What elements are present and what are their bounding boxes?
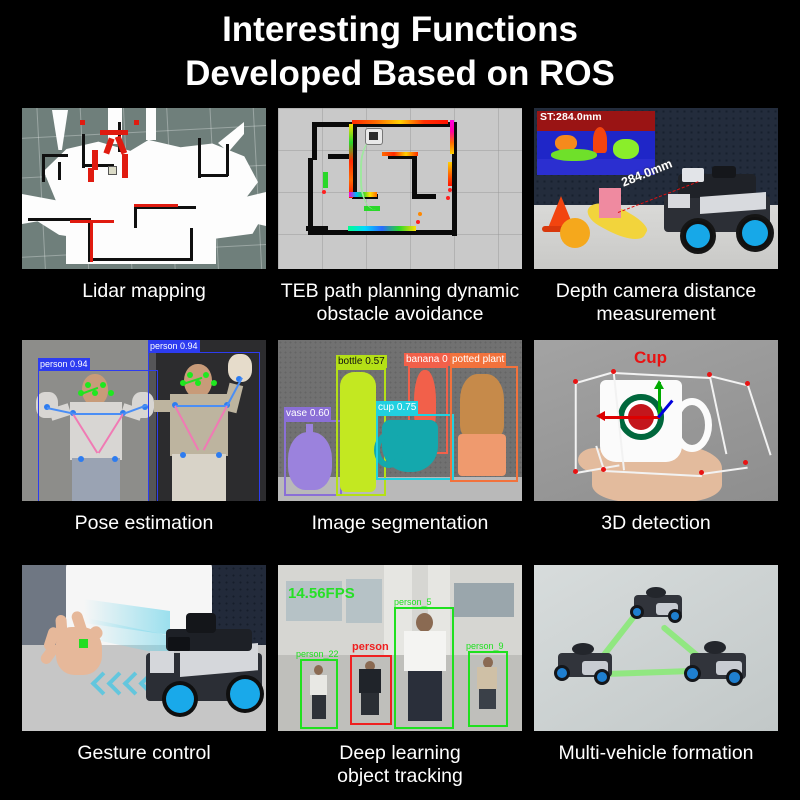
- building-window: [454, 583, 514, 617]
- car-front-panel: [668, 194, 690, 208]
- lidar-obstacle-marker: [100, 130, 128, 135]
- pose-keypoint: [100, 382, 106, 388]
- lidar-obstacle-marker: [134, 120, 139, 125]
- depth-blob-cone: [593, 127, 607, 153]
- object-tracking-image: 14.56FPS person_22: [278, 565, 522, 731]
- axis-x: [604, 416, 660, 419]
- camera-module: [168, 637, 190, 651]
- pose-estimation-thumbnail[interactable]: person 0.94: [22, 340, 266, 501]
- teb-costmap-band: [450, 120, 454, 154]
- lidar-map-image: [22, 108, 266, 269]
- feature-caption-pose-estimation: Pose estimation: [22, 501, 266, 537]
- teb-obstacle-dot: [418, 212, 422, 216]
- teb-robot-icon: [365, 128, 383, 145]
- lidar-obstacle-marker: [134, 204, 178, 207]
- potted-plant-bounding-box: [450, 366, 518, 482]
- depth-status-text: ST:284.0mm: [540, 111, 602, 123]
- lidar-obstacle-marker: [92, 150, 98, 170]
- lidar-wall: [58, 162, 61, 180]
- poster-root: Interesting Functions Developed Based on…: [0, 0, 800, 800]
- lidar-wall: [190, 228, 193, 261]
- depth-camera-thumbnail[interactable]: ST:284.0mm 284.0mm: [534, 108, 778, 269]
- teb-wall: [306, 226, 328, 231]
- feature-caption-teb-path-planning: TEB path planning dynamic obstacle avoid…: [278, 269, 522, 328]
- depth-blob-banana: [551, 149, 597, 161]
- teb-obstacle-dot: [416, 220, 420, 224]
- feature-caption-depth-camera: Depth camera distance measurement: [534, 269, 778, 328]
- bbox-corner: [601, 467, 606, 472]
- pose-label-right: person 0.94: [148, 340, 200, 352]
- 3d-object-label: Cup: [634, 348, 667, 368]
- lidar-wall: [88, 258, 192, 261]
- vehicle-wheel: [630, 605, 644, 619]
- fps-counter: 14.56FPS: [288, 585, 355, 602]
- feature-card-image-segmentation[interactable]: vase 0.60 bottle 0.57 banana 0 cup 0.75: [278, 340, 522, 565]
- lidar-wall: [226, 144, 229, 176]
- lidar-module: [186, 613, 216, 633]
- pose-bone: [175, 405, 227, 407]
- lidar-obstacle-marker: [122, 154, 128, 178]
- teb-wall: [412, 154, 417, 198]
- tracking-box: [350, 655, 392, 725]
- teb-costmap-band: [448, 162, 452, 186]
- feature-caption-multi-vehicle-formation: Multi-vehicle formation: [534, 731, 778, 767]
- page-title-line-1: Interesting Functions: [0, 8, 800, 52]
- feature-card-teb-path-planning[interactable]: TEB path planning dynamic obstacle avoid…: [278, 108, 522, 340]
- depth-caption-line-1: Depth camera distance: [556, 280, 757, 302]
- vehicle-wheel: [668, 609, 682, 623]
- tracking-box: [394, 607, 454, 729]
- lidar-obstacle-marker: [88, 168, 94, 182]
- pose-keypoint-hip: [216, 452, 222, 458]
- teb-wall: [312, 122, 317, 160]
- vehicle-wheel: [726, 669, 743, 686]
- tracking-box: [300, 659, 338, 729]
- cup-bounding-box: [376, 414, 454, 480]
- page-title: Interesting Functions Developed Based on…: [0, 8, 800, 96]
- feature-card-depth-camera[interactable]: ST:284.0mm 284.0mm: [534, 108, 778, 340]
- feature-caption-image-segmentation: Image segmentation: [278, 501, 522, 537]
- 3d-detection-thumbnail[interactable]: Cup: [534, 340, 778, 501]
- pose-keypoint: [195, 380, 201, 386]
- car-wheel: [226, 675, 264, 713]
- vehicle-lidar: [646, 587, 666, 598]
- feature-card-object-tracking[interactable]: 14.56FPS person_22: [278, 565, 522, 790]
- bbox-corner: [573, 469, 578, 474]
- camera-module: [682, 168, 704, 182]
- orange-fruit-object: [560, 218, 590, 248]
- vehicle-lidar: [704, 641, 726, 654]
- bbox-corner: [743, 460, 748, 465]
- lidar-obstacle-marker: [80, 120, 85, 125]
- teb-map-image: [278, 108, 522, 269]
- tracking-caption-line-1: Deep learning: [339, 742, 460, 764]
- vase-bounding-box: [284, 420, 342, 496]
- lidar-wall: [42, 154, 68, 157]
- pose-keypoint-hip: [78, 456, 84, 462]
- tracking-box: [468, 651, 508, 727]
- feature-grid: Lidar mapping: [22, 108, 778, 790]
- gesture-marker: [79, 639, 88, 648]
- bbox-corner: [611, 369, 616, 374]
- robot-vehicle: [554, 639, 616, 691]
- robot-car: [140, 607, 266, 717]
- feature-caption-3d-detection: 3D detection: [534, 501, 778, 537]
- lidar-wall: [134, 206, 137, 228]
- pink-box-object: [599, 188, 621, 218]
- feature-card-lidar-mapping[interactable]: Lidar mapping: [22, 108, 266, 340]
- car-wheel: [680, 218, 716, 254]
- lidar-mapping-thumbnail[interactable]: [22, 108, 266, 269]
- vehicle-lidar: [572, 643, 594, 655]
- pose-keypoint: [203, 372, 209, 378]
- tracking-label: person_5: [394, 597, 432, 607]
- teb-caption-line-2: obstacle avoidance: [317, 303, 484, 325]
- banana-label: banana 0: [404, 353, 450, 366]
- gesture-control-image: [22, 565, 266, 731]
- 3d-detection-image: Cup: [534, 340, 778, 501]
- depth-camera-image: ST:284.0mm 284.0mm: [534, 108, 778, 269]
- pose-bone: [73, 413, 123, 415]
- tracking-label: person_9: [466, 641, 504, 651]
- pose-bounding-box-left: [38, 370, 158, 501]
- teb-costmap-band: [323, 172, 328, 188]
- car-wheel: [162, 681, 198, 717]
- mug-handle: [672, 398, 712, 452]
- tracking-caption-line-2: object tracking: [337, 765, 463, 787]
- vehicle-wheel: [594, 669, 610, 685]
- feature-card-multi-vehicle-formation[interactable]: Multi-vehicle formation: [534, 565, 778, 790]
- bbox-edge: [575, 383, 577, 473]
- axis-x-arrow: [596, 411, 605, 421]
- potted-plant-label: potted plant: [450, 353, 506, 366]
- lidar-module: [712, 166, 736, 178]
- lidar-scan-ray: [146, 108, 156, 140]
- pose-label-left: person 0.94: [38, 358, 90, 370]
- bbox-corner: [745, 381, 750, 386]
- robot-car: [662, 166, 774, 251]
- feature-card-gesture-control[interactable]: Gesture control: [22, 565, 266, 790]
- robot-vehicle: [630, 583, 686, 627]
- vehicle-wheel: [554, 665, 570, 681]
- pose-keypoint: [187, 372, 193, 378]
- pose-keypoint: [108, 390, 114, 396]
- vase-label: vase 0.60: [284, 407, 331, 420]
- pose-keypoint-hip: [180, 452, 186, 458]
- lidar-wall: [198, 138, 201, 178]
- bottle-label: bottle 0.57: [336, 355, 387, 368]
- image-segmentation-image: vase 0.60 bottle 0.57 banana 0 cup 0.75: [278, 340, 522, 501]
- feature-caption-lidar-mapping: Lidar mapping: [22, 269, 266, 305]
- pose-keypoint: [92, 390, 98, 396]
- page-title-line-2: Developed Based on ROS: [0, 52, 800, 96]
- tracking-label: person_22: [296, 649, 339, 659]
- teb-costmap-band: [348, 226, 416, 231]
- feature-card-3d-detection[interactable]: Cup 3D detection: [534, 340, 778, 565]
- teb-obstacle-dot: [322, 190, 326, 194]
- gesture-control-thumbnail[interactable]: [22, 565, 266, 731]
- lidar-wall: [82, 134, 85, 168]
- teb-planned-path: [360, 138, 392, 210]
- lidar-obstacle-marker: [90, 222, 93, 262]
- teb-obstacle-dot: [446, 196, 450, 200]
- multi-vehicle-formation-thumbnail[interactable]: [534, 565, 778, 731]
- lidar-robot-pose: [108, 166, 117, 175]
- vehicle-wheel: [684, 665, 701, 682]
- pose-keypoint: [85, 382, 91, 388]
- teb-caption-line-1: TEB path planning dynamic: [281, 280, 519, 302]
- feature-caption-object-tracking: Deep learning object tracking: [278, 731, 522, 790]
- car-wheel: [736, 214, 774, 252]
- tracking-label: person: [352, 641, 389, 653]
- multi-vehicle-formation-image: [534, 565, 778, 731]
- depth-blob-green: [613, 139, 639, 159]
- teb-costmap-band: [352, 120, 448, 124]
- lidar-wall: [42, 156, 45, 182]
- teb-path-planning-thumbnail[interactable]: [278, 108, 522, 269]
- pose-keypoint: [211, 380, 217, 386]
- feature-card-pose-estimation[interactable]: person 0.94: [22, 340, 266, 565]
- image-segmentation-thumbnail[interactable]: vase 0.60 bottle 0.57 banana 0 cup 0.75: [278, 340, 522, 501]
- bbox-corner: [707, 372, 712, 377]
- pose-keypoint-hip: [112, 456, 118, 462]
- teb-wall: [308, 158, 313, 234]
- bbox-corner: [699, 470, 704, 475]
- bbox-corner: [573, 379, 578, 384]
- feature-caption-gesture-control: Gesture control: [22, 731, 266, 767]
- car-front-panel: [150, 651, 174, 673]
- object-tracking-thumbnail[interactable]: 14.56FPS person_22: [278, 565, 522, 731]
- depth-caption-line-2: measurement: [596, 303, 715, 325]
- axis-y-arrow: [654, 380, 664, 389]
- teb-costmap-band: [349, 124, 353, 198]
- cup-label: cup 0.75: [376, 401, 418, 414]
- lidar-wall: [198, 174, 228, 177]
- robot-vehicle: [684, 637, 750, 693]
- pose-estimation-image: person 0.94: [22, 340, 266, 501]
- teb-obstacle-dot: [448, 188, 452, 192]
- teb-wall: [412, 194, 436, 199]
